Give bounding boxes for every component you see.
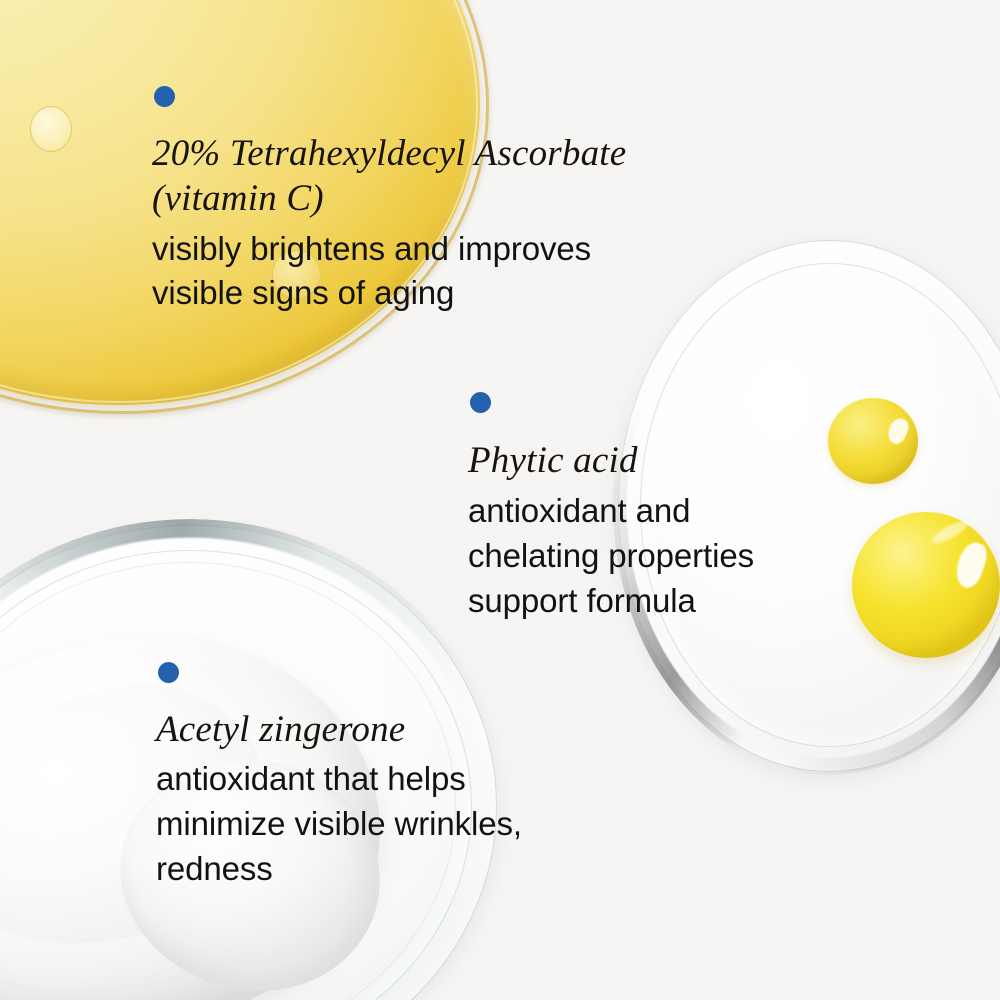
ingredient-name-line: Acetyl zingerone — [156, 709, 405, 750]
ingredient-description-line: minimize visible wrinkles, — [156, 801, 586, 846]
blue-dot-icon — [470, 392, 491, 413]
infographic-canvas: 20% Tetrahexyldecyl Ascorbate (vitamin C… — [0, 0, 1000, 1000]
ingredient-callout-vitamin-c: 20% Tetrahexyldecyl Ascorbate (vitamin C… — [152, 86, 712, 315]
ingredient-callouts: 20% Tetrahexyldecyl Ascorbate (vitamin C… — [0, 0, 1000, 1000]
ingredient-description-line: support formula — [468, 578, 868, 623]
ingredient-description-line: visibly brightens and improves — [152, 227, 712, 271]
ingredient-name-line: Phytic acid — [468, 440, 638, 481]
blue-dot-icon — [154, 86, 175, 107]
ingredient-name-phytic-acid: Phytic acid — [468, 439, 868, 483]
ingredient-description-phytic-acid: antioxidant and chelating properties sup… — [468, 488, 868, 623]
ingredient-description-line: antioxidant and — [468, 488, 868, 533]
ingredient-callout-phytic-acid: Phytic acid antioxidant and chelating pr… — [468, 392, 868, 623]
ingredient-description-vitamin-c: visibly brightens and improves visible s… — [152, 227, 712, 315]
ingredient-name-vitamin-c: 20% Tetrahexyldecyl Ascorbate (vitamin C… — [152, 131, 712, 221]
ingredient-description-acetyl-zingerone: antioxidant that helps minimize visible … — [156, 756, 586, 891]
ingredient-name-acetyl-zingerone: Acetyl zingerone — [156, 708, 586, 752]
ingredient-description-line: redness — [156, 846, 586, 891]
ingredient-description-line: visible signs of aging — [152, 271, 712, 315]
ingredient-description-line: chelating properties — [468, 533, 868, 578]
blue-dot-icon — [158, 662, 179, 683]
ingredient-description-line: antioxidant that helps — [156, 756, 586, 801]
ingredient-callout-acetyl-zingerone: Acetyl zingerone antioxidant that helps … — [156, 662, 586, 891]
ingredient-name-line: 20% Tetrahexyldecyl — [152, 133, 466, 174]
